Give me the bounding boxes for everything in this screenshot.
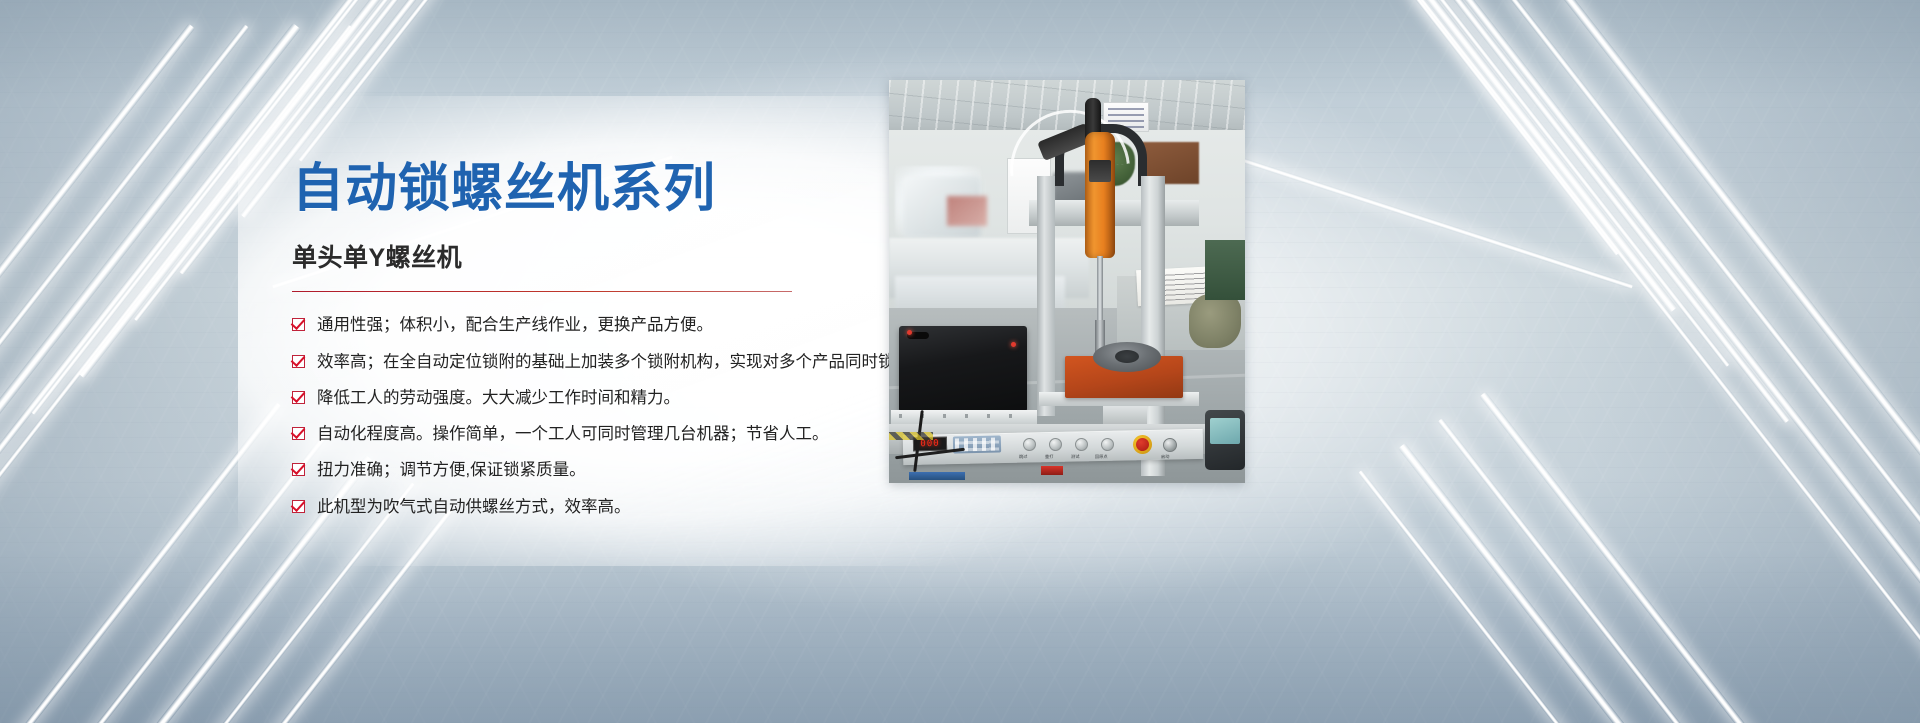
divider	[292, 291, 792, 292]
check-icon	[292, 463, 305, 476]
feature-text: 通用性强；体积小，配合生产线作业，更换产品方便。	[317, 314, 713, 336]
machine-red-label	[1041, 466, 1063, 475]
machine-teach-pendant	[1205, 410, 1245, 470]
photo-cloth	[1189, 294, 1241, 348]
check-icon	[292, 427, 305, 440]
list-item: 效率高；在全自动定位锁附的基础上加装多个锁附机构，实现对多个产品同时锁附。	[292, 351, 912, 373]
list-item: 此机型为吹气式自动供螺丝方式，效率高。	[292, 496, 912, 518]
feature-text: 降低工人的劳动强度。大大减少工作时间和精力。	[317, 387, 680, 409]
panel-display-value: 000	[920, 439, 939, 449]
machine-electric-screwdriver	[1085, 132, 1115, 258]
machine-screw-feeder	[899, 326, 1027, 412]
page-title: 自动锁螺丝机系列	[292, 160, 912, 218]
photo-bin	[1205, 240, 1245, 300]
feature-text: 扭力准确；调节方便,保证锁紧质量。	[317, 459, 586, 481]
photo-blue-object	[909, 472, 965, 480]
photo-background-object	[947, 196, 987, 226]
machine-z-rail	[1037, 176, 1055, 416]
panel-label-redo: 重打	[1045, 454, 1054, 460]
product-photo: 000 跳过 重打 测试 回原点 启动	[889, 80, 1245, 483]
feature-text: 效率高；在全自动定位锁附的基础上加装多个锁附机构，实现对多个产品同时锁附。	[317, 351, 928, 373]
check-icon	[292, 391, 305, 404]
photo-floor-marking	[889, 432, 933, 440]
feature-text: 此机型为吹气式自动供螺丝方式，效率高。	[317, 496, 631, 518]
check-icon	[292, 318, 305, 331]
list-item: 降低工人的劳动强度。大大减少工作时间和精力。	[292, 387, 912, 409]
panel-label-start: 启动	[1161, 454, 1170, 460]
panel-label-skip: 跳过	[1019, 454, 1028, 460]
panel-label-test: 测试	[1071, 454, 1080, 460]
panel-label-home: 回原点	[1095, 454, 1108, 460]
feeder-indicator-icon	[1011, 342, 1016, 347]
product-banner: 自动锁螺丝机系列 单头单Y螺丝机 通用性强；体积小，配合生产线作业，更换产品方便…	[0, 0, 1920, 723]
list-item: 通用性强；体积小，配合生产线作业，更换产品方便。	[292, 314, 912, 336]
feature-text: 自动化程度高。操作简单，一个工人可同时管理几台机器；节省人工。	[317, 423, 829, 445]
list-item: 扭力准确；调节方便,保证锁紧质量。	[292, 459, 912, 481]
machine-feeder-base	[891, 410, 1037, 424]
feeder-indicator-icon	[907, 330, 912, 335]
check-icon	[292, 500, 305, 513]
banner-content: 自动锁螺丝机系列 单头单Y螺丝机 通用性强；体积小，配合生产线作业，更换产品方便…	[292, 160, 912, 532]
feature-list: 通用性强；体积小，配合生产线作业，更换产品方便。 效率高；在全自动定位锁附的基础…	[292, 314, 912, 518]
machine-workpiece	[1093, 342, 1161, 372]
list-item: 自动化程度高。操作简单，一个工人可同时管理几台机器；节省人工。	[292, 423, 912, 445]
check-icon	[292, 355, 305, 368]
page-subtitle: 单头单Y螺丝机	[292, 238, 912, 274]
